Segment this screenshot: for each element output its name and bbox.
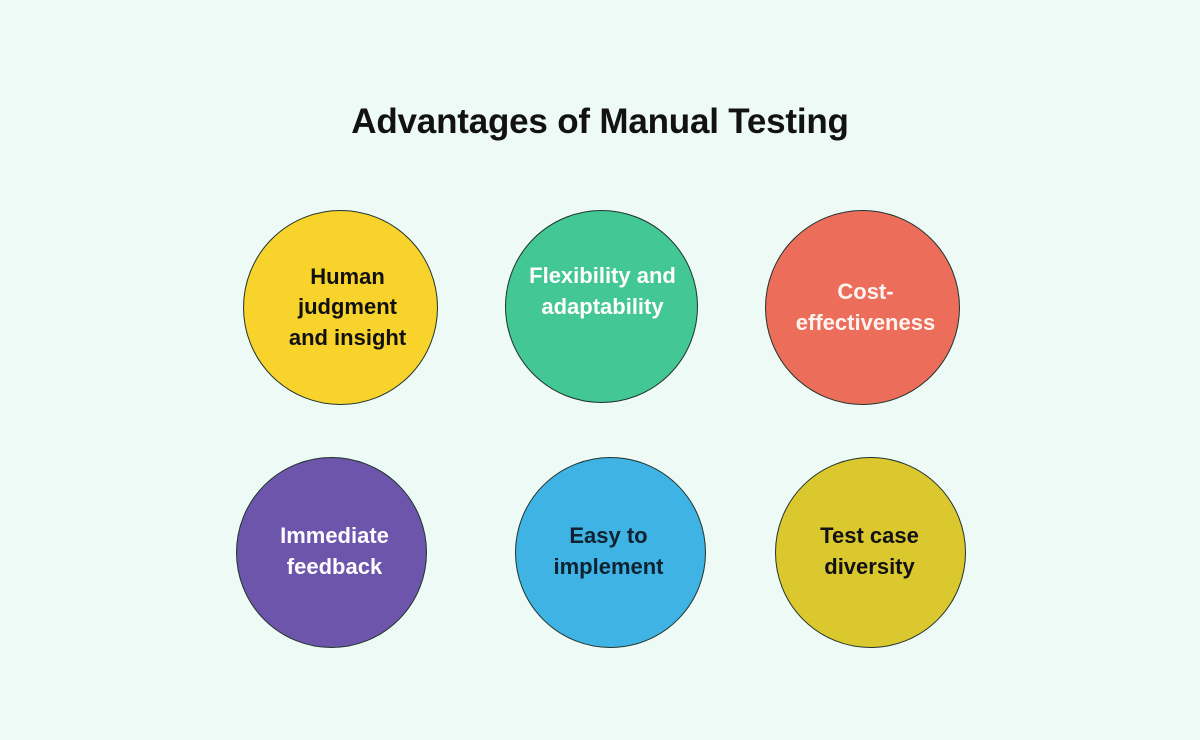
advantage-label-flexibility-and-adaptability: Flexibility and adaptability xyxy=(519,261,686,322)
advantage-label-cost-effectiveness: Cost- effectiveness xyxy=(786,277,945,338)
advantage-label-human-judgment-and-insight: Human judgment and insight xyxy=(279,262,416,353)
advantage-circle-immediate-feedback[interactable]: Immediate feedback xyxy=(236,457,427,648)
advantage-circle-easy-to-implement[interactable]: Easy to implement xyxy=(515,457,706,648)
advantage-circle-cost-effectiveness[interactable]: Cost- effectiveness xyxy=(765,210,960,405)
advantage-circle-human-judgment-and-insight[interactable]: Human judgment and insight xyxy=(243,210,438,405)
advantage-label-immediate-feedback: Immediate feedback xyxy=(270,521,399,582)
advantage-circle-flexibility-and-adaptability[interactable]: Flexibility and adaptability xyxy=(505,210,698,403)
advantage-label-test-case-diversity: Test case diversity xyxy=(810,521,929,582)
advantage-label-easy-to-implement: Easy to implement xyxy=(543,521,673,582)
advantage-circle-test-case-diversity[interactable]: Test case diversity xyxy=(775,457,966,648)
advantages-circle-grid: Human judgment and insight Flexibility a… xyxy=(0,0,1200,740)
infographic-page: Advantages of Manual Testing Human judgm… xyxy=(0,0,1200,740)
